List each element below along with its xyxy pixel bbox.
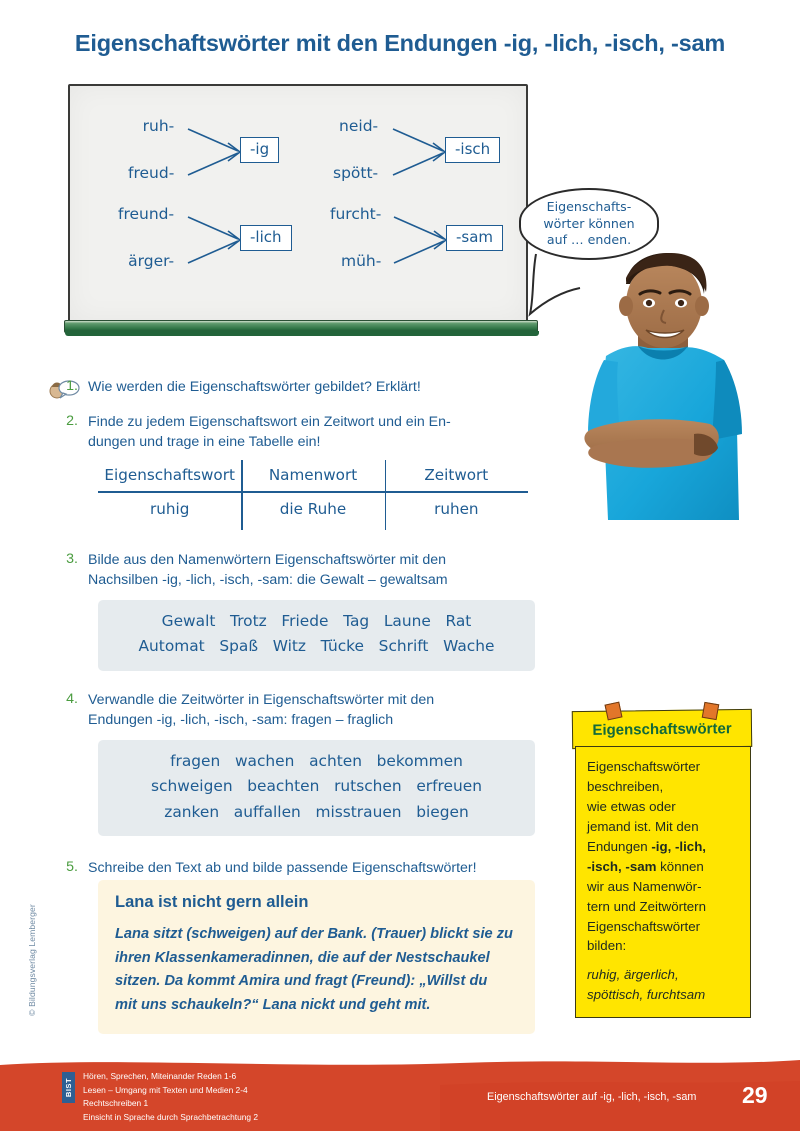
bist-line: Hören, Sprechen, Miteinander Reden 1-6 [83,1070,258,1084]
stem: freund- [118,207,174,223]
exercise-text: Bilde aus den Namenwörtern Eigenschaftsw… [88,550,448,590]
blackboard-ledge [64,320,538,333]
tape-clip-icon [605,702,623,721]
table-header-cell: Eigenschaftswort [98,462,241,491]
ending-box: -ig [240,137,279,163]
stem: neid- [339,119,378,135]
arrow-icon [392,211,452,269]
info-box-examples: ruhig, ärgerlich, spöttisch, furchtsam [587,965,739,1005]
word-line: zanken auffallen misstrauen biegen [98,800,535,825]
word-formation-group-1: ruh- freud- -ig [128,119,174,181]
bist-badge: BIST [62,1072,75,1103]
story-text: Lana sitzt (schweigen) auf der Bank. (Tr… [115,923,518,1018]
exercise-5: 5. Schreibe den Text ab und bilde passen… [52,858,552,878]
word-line: Gewalt Trotz Friede Tag Laune Rat [98,609,535,634]
stem: ruh- [143,119,175,135]
word-formation-group-2: neid- spött- -isch [333,119,378,181]
info-box-body: Eigenschaftswörter beschreiben, wie etwa… [575,746,751,1018]
arrow-icon [186,123,246,181]
table-cell: ruhig [98,493,241,528]
speech-bubble: Eigenschafts- wörter können auf … enden. [519,188,659,260]
stem: freud- [128,166,174,182]
exercise-number: 1. [52,377,78,397]
stem: ärger- [128,254,174,270]
stem: müh- [341,254,381,270]
verb-word-box: fragen wachen achten bekommen schweigen … [98,740,535,836]
stem-list-2: neid- spött- [333,119,378,181]
info-box-paragraph: Eigenschaftswörter beschreiben, wie etwa… [587,757,739,956]
exercise-number: 4. [52,690,78,730]
exercise-number: 3. [52,550,78,590]
info-box: Eigenschaftswörter Eigenschaftswörter be… [568,700,758,1026]
exercise-3: 3. Bilde aus den Namenwörtern Eigenschaf… [52,550,532,590]
exercise-1: 1. Wie werden die Eigenschaftswörter geb… [52,377,522,397]
table-header-cell: Namenwort [241,462,384,491]
bist-standards-list: Hören, Sprechen, Miteinander Reden 1-6 L… [83,1070,258,1124]
word-formation-group-4: furcht- müh- -sam [330,207,381,269]
speech-bubble-tail [528,252,618,330]
speech-bubble-text: Eigenschafts- wörter können auf … enden. [543,199,634,249]
exercise-number: 5. [52,858,78,878]
exercise-text: Schreibe den Text ab und bilde passende … [88,858,477,878]
page-title: Eigenschaftswörter mit den Endungen -ig,… [0,30,800,57]
exercise-2: 2. Finde zu jedem Eigenschaftswort ein Z… [52,412,522,452]
word-line: fragen wachen achten bekommen [98,749,535,774]
bist-line: Lesen – Umgang mit Texten und Medien 2-4 [83,1084,258,1098]
table-cell: ruhen [385,493,528,528]
stem-list-1: ruh- freud- [128,119,174,181]
word-formation-group-3: freund- ärger- -lich [118,207,174,269]
exercise-4: 4. Verwandle die Zeitwörter in Eigenscha… [52,690,532,730]
stem: spött- [333,166,378,182]
story-box: Lana ist nicht gern allein Lana sitzt (s… [98,880,535,1034]
exercise-text: Finde zu jedem Eigenschaftswort ein Zeit… [88,412,451,452]
tape-clip-icon [702,702,720,720]
info-box-header: Eigenschaftswörter [572,709,752,749]
blackboard: ruh- freud- -ig neid- spött- -isch freun… [68,84,533,344]
bist-line: Rechtschreiben 1 [83,1097,258,1111]
stem-list-4: furcht- müh- [330,207,381,269]
bist-line: Einsicht in Sprache durch Sprachbetracht… [83,1111,258,1125]
arrow-icon [186,211,246,269]
exercise-text: Wie werden die Eigenschaftswörter gebild… [88,377,421,397]
stem-list-3: freund- ärger- [118,207,174,269]
bist-badge-label: BIST [64,1078,73,1097]
word-line: schweigen beachten rutschen erfreuen [98,774,535,799]
exercise-number: 2. [52,412,78,452]
ending-box: -isch [445,137,500,163]
stem: furcht- [330,207,381,223]
arrow-icon [391,123,451,181]
story-title: Lana ist nicht gern allein [115,893,518,912]
noun-word-box: Gewalt Trotz Friede Tag Laune Rat Automa… [98,600,535,671]
page-number: 29 [742,1082,768,1109]
ending-box: -lich [240,225,292,251]
word-line: Automat Spaß Witz Tücke Schrift Wache [98,634,535,659]
table-row: ruhig die Ruhe ruhen [98,493,528,528]
copyright-notice: © Bildungsverlag Lemberger [27,880,37,1040]
table-header-row: Eigenschaftswort Namenwort Zeitwort [98,462,528,491]
table-cell: die Ruhe [241,493,384,528]
exercise-text: Verwandle die Zeitwörter in Eigenschafts… [88,690,434,730]
info-box-heading: Eigenschaftswörter [592,720,731,739]
word-table: Eigenschaftswort Namenwort Zeitwort ruhi… [98,462,528,528]
table-header-cell: Zeitwort [385,462,528,491]
footer-chapter-title: Eigenschaftswörter auf -ig, -lich, -isch… [487,1091,696,1103]
ending-box: -sam [446,225,503,251]
